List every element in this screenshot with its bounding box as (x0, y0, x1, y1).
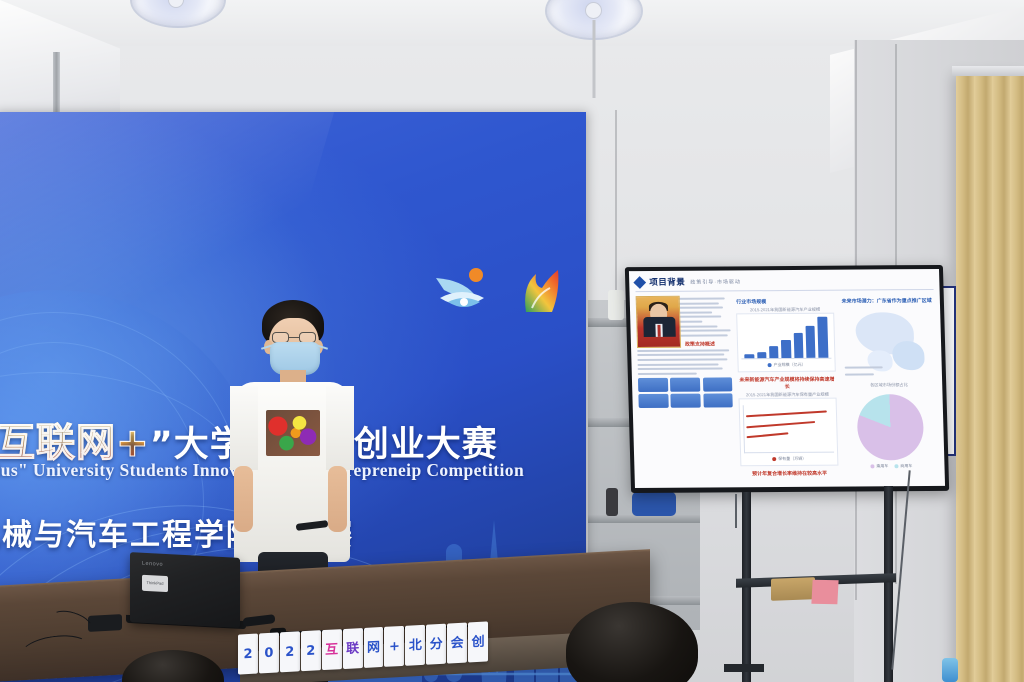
slide-column-left: 政策支持概述 (636, 295, 736, 482)
process-flow-diagram (638, 377, 733, 408)
cardboard-box (771, 577, 815, 601)
bar (781, 340, 791, 358)
line-legend: 保有量（万辆） (778, 456, 806, 462)
slide-subtitle: 政策引导·市场驱动 (690, 278, 741, 285)
diamond-icon (633, 276, 646, 289)
line-chart: 保有量（万辆） (739, 398, 838, 467)
leader-portrait (636, 296, 681, 348)
cutout-letter: + (384, 626, 404, 667)
slide-columns: 政策支持概述 行业市场规模 2 (636, 294, 939, 482)
bar (745, 354, 754, 358)
slide-column-right: 未来市场潜力：广东省作为重点推广区域 各区域市场份额占比 乘 (839, 294, 939, 481)
laptop[interactable]: Lenovo ThinkPad (130, 552, 240, 628)
presenter-sleeve-left (230, 386, 258, 470)
china-map-graphic (840, 308, 936, 381)
growth-note: 未来新能源汽车产业规模将持续保持高速增长 (738, 376, 836, 391)
pink-folder (811, 580, 838, 604)
laptop-brand-label: Lenovo (142, 561, 163, 568)
trend-line (747, 432, 789, 438)
water-bottle (942, 658, 958, 682)
tv-stand-foot-left (724, 664, 764, 672)
slide-column-center: 行业市场规模 2015-2021年我国新能源汽车产业规模 产业规模（亿元） 未来… (736, 295, 838, 482)
pie-legend-a: 乘用车 (876, 463, 888, 469)
bar-chart: 产业规模（亿元） (737, 313, 836, 373)
quote-close: ” (150, 425, 174, 465)
laptop-sticker: ThinkPad (142, 575, 168, 592)
slide-title: 项目背景 (649, 276, 685, 288)
bar (769, 346, 779, 358)
tshirt-graphic-print (266, 410, 320, 456)
curtain-rail (952, 66, 1024, 76)
cutout-letter: 0 (259, 632, 279, 673)
banner-logos (434, 260, 562, 314)
blue-case (632, 492, 676, 516)
trend-line (746, 421, 815, 428)
presentation-tv[interactable]: 项目背景 政策引导·市场驱动 (625, 265, 949, 493)
window-curtain (956, 74, 1024, 682)
cutout-letter: 网 (364, 627, 384, 668)
pie-title: 各区域市场份额占比 (842, 382, 937, 389)
photo-scene: 项目背景 政策引导·市场驱动 (0, 0, 1024, 682)
ceiling-fan-left (122, 0, 232, 44)
bottle-white (608, 290, 624, 320)
presenter-arm-right (328, 466, 347, 532)
slide-header: 项目背景 政策引导·市场驱动 (635, 274, 934, 292)
cutout-letter: 会 (447, 623, 467, 664)
cutout-letter: 联 (343, 628, 363, 669)
cutout-letter: 北 (405, 625, 425, 666)
cutout-letter: 互 (322, 629, 342, 670)
bar (818, 317, 828, 358)
map-title: 未来市场潜力：广东省作为重点推广区域 (839, 297, 934, 305)
slide-content: 项目背景 政策引导·市场驱动 (629, 269, 945, 488)
bar (793, 333, 803, 358)
cutout-letter: 2 (238, 634, 258, 675)
cutout-letter: 分 (426, 624, 446, 665)
presenter-sleeve-right (326, 386, 354, 470)
cutout-letter: 创 (468, 621, 488, 662)
ceiling-fan-right (535, 0, 655, 112)
bar-chart-caption: 2015-2021年我国新能源汽车产业规模 (736, 307, 833, 314)
market-size-title: 行业市场规模 (736, 298, 833, 306)
trend-line (746, 411, 827, 418)
pie-chart (856, 394, 924, 460)
cutout-letter: 2 (301, 630, 321, 671)
line-chart-caption: 2015-2021年我国新能源汽车保有量产业规模 (739, 392, 836, 399)
bar (806, 326, 816, 358)
flame-wing-logo (518, 260, 562, 314)
bar-legend: 产业规模（亿元） (774, 362, 806, 368)
wall-conduit (53, 52, 60, 114)
cutout-letter: 2 (280, 631, 300, 672)
tv-screen: 项目背景 政策引导·市场驱动 (629, 269, 945, 488)
competition-wave-logo (434, 264, 496, 314)
laptop-sticker-text: ThinkPad (142, 580, 168, 586)
bar (757, 352, 766, 358)
presenter-arm-left (234, 466, 253, 532)
pie-legend-b: 商用车 (900, 463, 912, 469)
tool-dark (606, 488, 618, 516)
tv-signal-cable (735, 494, 737, 528)
tv-stand-leg-right (884, 486, 893, 682)
cagr-note: 预计年复合增长率维持在较高水平 (741, 470, 838, 478)
